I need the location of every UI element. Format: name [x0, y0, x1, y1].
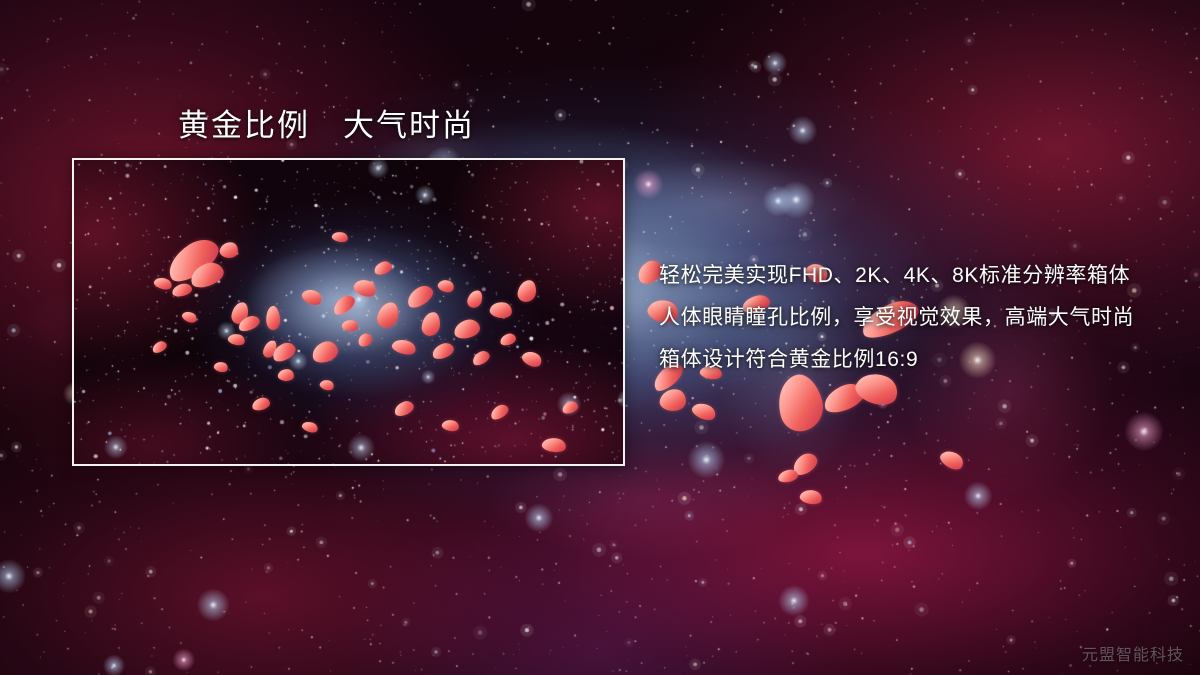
petal — [938, 447, 967, 474]
page-title: 黄金比例 大气时尚 — [178, 100, 475, 145]
petal — [690, 399, 718, 423]
petal — [777, 469, 798, 484]
petal — [659, 387, 688, 412]
body-text-block: 轻松完美实现FHD、2K、4K、8K标准分辨率箱体 人体眼睛瞳孔比例，享受视觉效… — [659, 255, 1179, 381]
body-line-1: 轻松完美实现FHD、2K、4K、8K标准分辨率箱体 — [659, 255, 1179, 297]
petal — [820, 380, 868, 417]
petal — [789, 450, 821, 479]
watermark-logo-text: 元盟智能科技 — [1082, 641, 1184, 665]
petal — [799, 488, 824, 507]
panel-starfield — [74, 160, 625, 466]
body-line-2: 人体眼睛瞳孔比例，享受视觉效果，高端大气时尚 — [659, 297, 1179, 339]
framed-image-panel — [72, 158, 625, 466]
body-line-3: 箱体设计符合黄金比例16:9 — [659, 339, 1179, 381]
presentation-slide: 黄金比例 大气时尚 轻松完美实现FHD、2K、4K、8K标准分辨率箱体 人体眼睛… — [0, 0, 1200, 675]
